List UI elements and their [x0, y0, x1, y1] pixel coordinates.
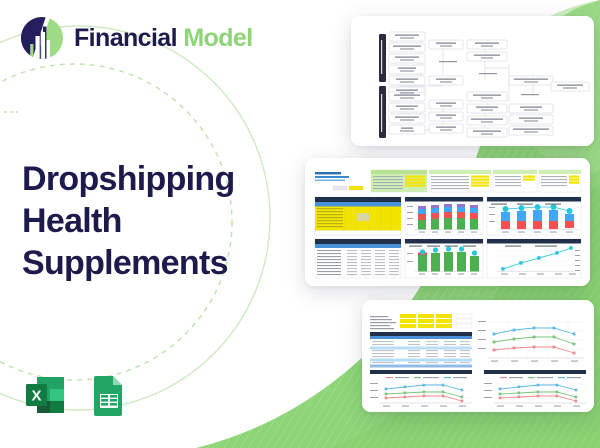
- microsoft-excel-icon[interactable]: X: [22, 372, 68, 418]
- svg-text:X: X: [31, 388, 41, 405]
- financial-model-circle-chart-logo: [20, 16, 64, 60]
- statements-thumbnail: [362, 300, 594, 412]
- assumption-panels: [371, 170, 581, 192]
- section-rail-balance: [379, 86, 386, 138]
- panel-assumptions-table: [315, 197, 401, 235]
- financial-ratio-tree-preview[interactable]: [351, 16, 594, 146]
- panel-cash-flow-chart: [405, 239, 483, 278]
- brand-name-part2: Model: [183, 24, 252, 52]
- panel-breakeven-chart: [487, 239, 581, 278]
- section-rail-income: [379, 34, 386, 82]
- panel-revenue-streams-chart: [405, 197, 483, 235]
- slide-canvas: Financial Model Dropshipping Health Supp…: [0, 0, 600, 448]
- google-sheets-icon[interactable]: [86, 372, 132, 418]
- financial-statements-preview[interactable]: [362, 300, 594, 412]
- panel-profitability-chart: [487, 197, 581, 235]
- page-title-line-3: Supplements: [22, 242, 292, 284]
- file-format-icons: X: [22, 372, 132, 418]
- brand-logo: Financial Model: [20, 16, 253, 60]
- chart-title-bar-left: [370, 370, 472, 374]
- brand-name: Financial Model: [74, 26, 253, 51]
- ratio-tree-thumbnail: [351, 16, 594, 146]
- financial-dashboard-preview[interactable]: [305, 158, 590, 286]
- brand-name-part1: Financial: [74, 24, 177, 52]
- page-title-line-1: Dropshipping: [22, 158, 292, 200]
- chart-title-bar-right: [484, 370, 586, 374]
- page-title-line-2: Health: [22, 200, 292, 242]
- dashboard-thumbnail: [305, 158, 590, 286]
- panel-core-financials-table: [315, 239, 401, 278]
- page-title: Dropshipping Health Supplements: [22, 158, 292, 284]
